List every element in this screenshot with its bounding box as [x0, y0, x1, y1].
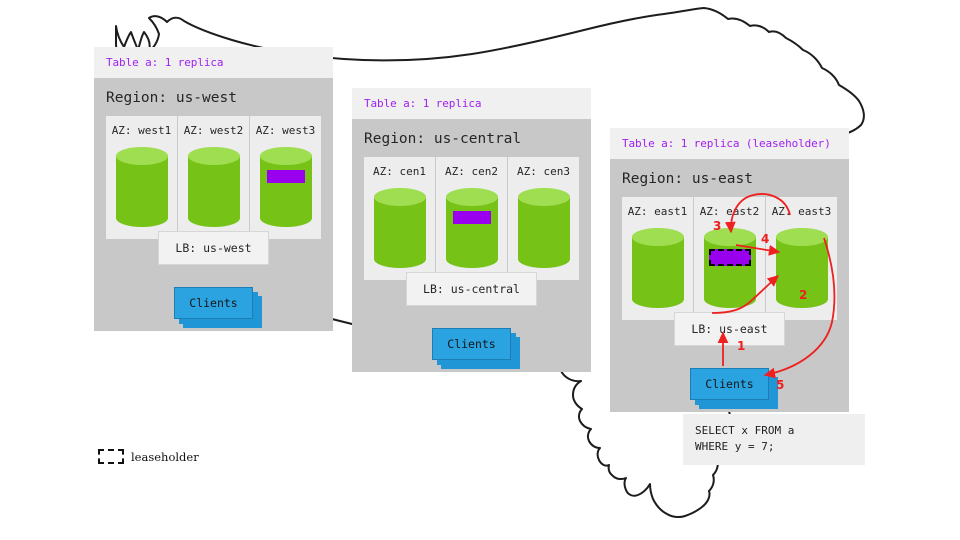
cylinder-top	[260, 147, 312, 165]
cylinder-body	[374, 197, 426, 259]
clients-button[interactable]: Clients	[174, 287, 252, 319]
region-panel-us-east: Table a: 1 replica (leaseholder) Region:…	[610, 128, 849, 412]
diagram-canvas: Table a: 1 replica Region: us-west AZ: w…	[0, 0, 960, 540]
db-node-cylinder[interactable]	[446, 188, 498, 268]
az-label: AZ: cen3	[508, 165, 579, 178]
az-row: AZ: west1 AZ: west2 AZ	[106, 116, 321, 239]
sql-query-box: SELECT x FROM a WHERE y = 7;	[683, 414, 865, 465]
legend-label: leaseholder	[131, 450, 199, 464]
cylinder-body	[632, 237, 684, 299]
az-cell-cen1[interactable]: AZ: cen1	[364, 157, 435, 280]
load-balancer-us-west[interactable]: LB: us-west	[158, 231, 268, 265]
az-label: AZ: west1	[106, 124, 177, 137]
az-label: AZ: east2	[694, 205, 765, 218]
clients-widget-us-west[interactable]: Clients	[174, 287, 252, 319]
step-number-2: 2	[799, 288, 807, 302]
panel-header-table-replica: Table a: 1 replica	[94, 47, 333, 78]
cylinder-body	[518, 197, 570, 259]
cylinder-body	[704, 237, 756, 299]
cylinder-top	[518, 188, 570, 206]
panel-body: Region: us-east AZ: east1 AZ: east2	[610, 159, 849, 412]
cylinder-top	[188, 147, 240, 165]
load-balancer-us-central[interactable]: LB: us-central	[406, 272, 537, 306]
region-panel-us-west: Table a: 1 replica Region: us-west AZ: w…	[94, 47, 333, 331]
az-cell-east2[interactable]: AZ: east2	[693, 197, 765, 320]
legend-leaseholder: leaseholder	[98, 449, 199, 464]
region-title: Region: us-central	[364, 119, 579, 157]
cylinder-body	[188, 156, 240, 218]
db-node-cylinder[interactable]	[632, 228, 684, 308]
clients-button[interactable]: Clients	[432, 328, 510, 360]
db-node-cylinder[interactable]	[374, 188, 426, 268]
leaseholder-swatch-icon	[98, 449, 124, 464]
leaseholder-replica-marker	[709, 249, 751, 266]
db-node-cylinder[interactable]	[188, 147, 240, 227]
az-label: AZ: cen1	[364, 165, 435, 178]
az-label: AZ: west3	[250, 124, 321, 137]
az-cell-west3[interactable]: AZ: west3	[249, 116, 321, 239]
az-cell-cen2[interactable]: AZ: cen2	[435, 157, 507, 280]
az-label: AZ: cen2	[436, 165, 507, 178]
az-label: AZ: west2	[178, 124, 249, 137]
az-label: AZ: east1	[622, 205, 693, 218]
cylinder-top	[374, 188, 426, 206]
db-node-cylinder[interactable]	[260, 147, 312, 227]
load-balancer-us-east[interactable]: LB: us-east	[674, 312, 784, 346]
cylinder-top	[704, 228, 756, 246]
panel-body: Region: us-central AZ: cen1 AZ: cen2	[352, 119, 591, 372]
step-number-1: 1	[737, 339, 745, 353]
step-number-4: 4	[761, 232, 769, 246]
cylinder-body	[446, 197, 498, 259]
step-number-5: 5	[776, 378, 784, 392]
az-label: AZ: east3	[766, 205, 837, 218]
region-panel-us-central: Table a: 1 replica Region: us-central AZ…	[352, 88, 591, 372]
az-row: AZ: cen1 AZ: cen2	[364, 157, 579, 280]
region-title: Region: us-west	[106, 78, 321, 116]
replica-marker	[267, 170, 305, 183]
clients-button[interactable]: Clients	[690, 368, 768, 400]
panel-header-table-replica-leaseholder: Table a: 1 replica (leaseholder)	[610, 128, 849, 159]
db-node-cylinder[interactable]	[704, 228, 756, 308]
cylinder-top	[632, 228, 684, 246]
cylinder-top	[116, 147, 168, 165]
replica-marker	[453, 211, 491, 224]
step-number-3: 3	[713, 219, 721, 233]
az-cell-cen3[interactable]: AZ: cen3	[507, 157, 579, 280]
panel-body: Region: us-west AZ: west1 AZ: west2	[94, 78, 333, 331]
clients-widget-us-central[interactable]: Clients	[432, 328, 510, 360]
cylinder-top	[446, 188, 498, 206]
region-title: Region: us-east	[622, 159, 837, 197]
az-cell-west1[interactable]: AZ: west1	[106, 116, 177, 239]
cylinder-top	[776, 228, 828, 246]
panel-header-table-replica: Table a: 1 replica	[352, 88, 591, 119]
az-cell-west2[interactable]: AZ: west2	[177, 116, 249, 239]
db-node-cylinder[interactable]	[518, 188, 570, 268]
clients-widget-us-east[interactable]: Clients	[690, 368, 768, 400]
az-cell-east1[interactable]: AZ: east1	[622, 197, 693, 320]
cylinder-body	[260, 156, 312, 218]
cylinder-body	[116, 156, 168, 218]
db-node-cylinder[interactable]	[116, 147, 168, 227]
